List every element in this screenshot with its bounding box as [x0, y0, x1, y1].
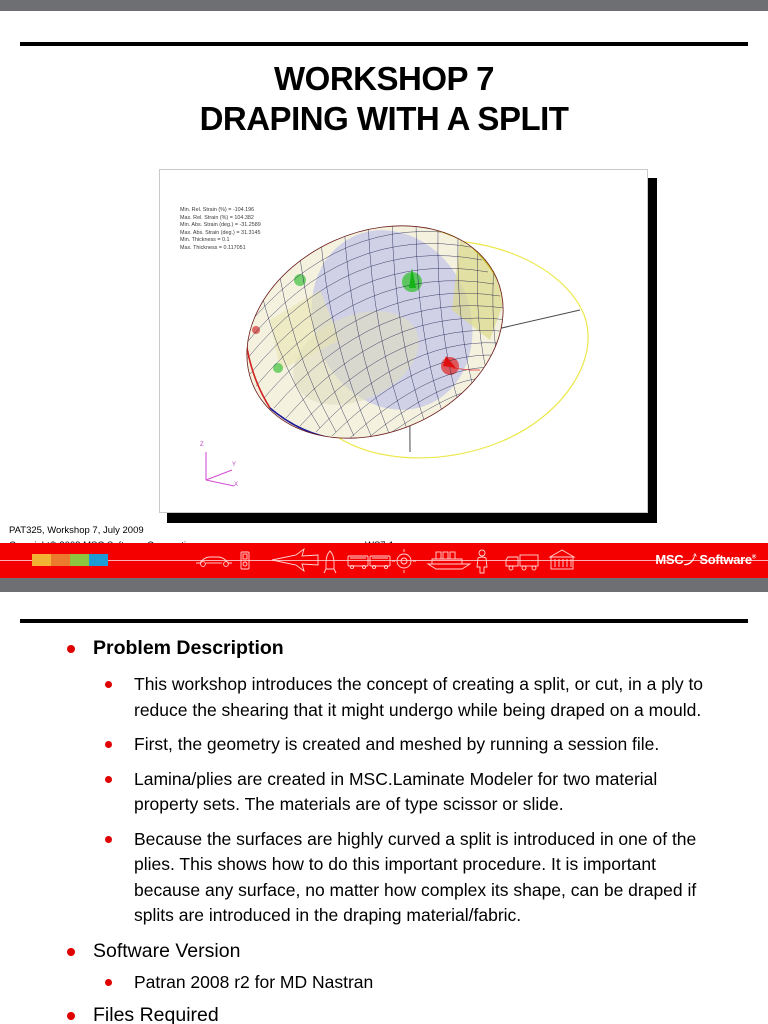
content-rule — [20, 619, 748, 623]
truck-icon — [506, 555, 538, 570]
bullet-dot-icon — [67, 645, 75, 653]
bullet-dot-icon — [105, 681, 112, 688]
title-line-2: DRAPING WITH A SPLIT — [0, 99, 768, 139]
ellipsoid-mesh-graphic — [160, 170, 647, 512]
msc-software-logo: MSCSoftware® — [655, 552, 756, 567]
bullet-text: Problem Description — [93, 637, 284, 659]
axis-label-y: Y — [232, 462, 236, 468]
title-rule — [20, 42, 748, 46]
slide-1: WORKSHOP 7 DRAPING WITH A SPLIT Min. Rel… — [0, 11, 768, 592]
mobile-device-icon — [241, 552, 249, 569]
bullet-level1-files-required: Files Required — [0, 1002, 768, 1024]
axis-label-z: Z — [200, 442, 204, 448]
mesh-group — [213, 187, 537, 478]
bullet-level1-software-version: Software Version — [0, 938, 768, 966]
bullet-dot-icon — [67, 948, 75, 956]
slide-page: WORKSHOP 7 DRAPING WITH A SPLIT Min. Rel… — [0, 0, 768, 1024]
bullet-level2-patran: Patran 2008 r2 for MD Nastran — [0, 970, 768, 996]
bullet-text: Because the surfaces are highly curved a… — [134, 827, 768, 929]
bullet-text: This workshop introduces the concept of … — [134, 672, 768, 723]
logo-msc-text: MSC — [655, 552, 683, 567]
bullet-dot-icon — [105, 741, 112, 748]
page-title: WORKSHOP 7 DRAPING WITH A SPLIT — [0, 59, 768, 139]
banner-icon-strip — [0, 543, 768, 578]
logo-registered-mark: ® — [752, 555, 756, 561]
bullet-dot-icon — [105, 776, 112, 783]
gear-icon — [392, 549, 416, 573]
slide-divider-gray-strip — [0, 578, 768, 592]
bullet-dot-icon — [105, 979, 112, 986]
msc-swoosh-icon — [683, 552, 699, 567]
draping-figure: Min. Rel. Strain (%) = -104.196 Max. Rel… — [159, 169, 649, 514]
ship-icon — [428, 552, 470, 569]
train-icon — [348, 556, 390, 569]
bullet-level2-geometry: First, the geometry is created and meshe… — [0, 732, 768, 758]
car-icon — [196, 557, 232, 566]
bullet-dot-icon — [105, 836, 112, 843]
top-gray-bar — [0, 0, 768, 11]
figure-panel: Min. Rel. Strain (%) = -104.196 Max. Rel… — [159, 169, 648, 513]
rocket-icon — [324, 551, 336, 573]
bullet-text: Lamina/plies are created in MSC.Laminate… — [134, 767, 768, 818]
bullet-text: First, the geometry is created and meshe… — [134, 732, 768, 758]
building-icon — [550, 550, 574, 569]
msc-red-banner: MSCSoftware® — [0, 543, 768, 578]
bullet-dot-icon — [67, 1012, 75, 1020]
axis-label-x: X — [234, 482, 238, 488]
bullet-level2-surfaces: Because the surfaces are highly curved a… — [0, 827, 768, 929]
logo-software-text: Software — [699, 552, 752, 567]
bullet-text: Files Required — [93, 1004, 219, 1024]
title-line-1: WORKSHOP 7 — [274, 60, 494, 97]
airplane-icon — [272, 549, 318, 571]
person-icon — [477, 550, 487, 573]
axis-triad — [206, 452, 234, 486]
bullet-text: Patran 2008 r2 for MD Nastran — [134, 970, 768, 996]
bullet-level1-problem-description: Problem Description — [0, 635, 768, 663]
footer-course-line: PAT325, Workshop 7, July 2009 — [9, 525, 144, 536]
bullet-content: Problem Description This workshop introd… — [0, 635, 768, 1024]
bullet-level2-lamina: Lamina/plies are created in MSC.Laminate… — [0, 767, 768, 818]
bullet-level2-intro: This workshop introduces the concept of … — [0, 672, 768, 723]
bullet-text: Software Version — [93, 940, 240, 962]
slide-2: Problem Description This workshop introd… — [0, 592, 768, 1024]
